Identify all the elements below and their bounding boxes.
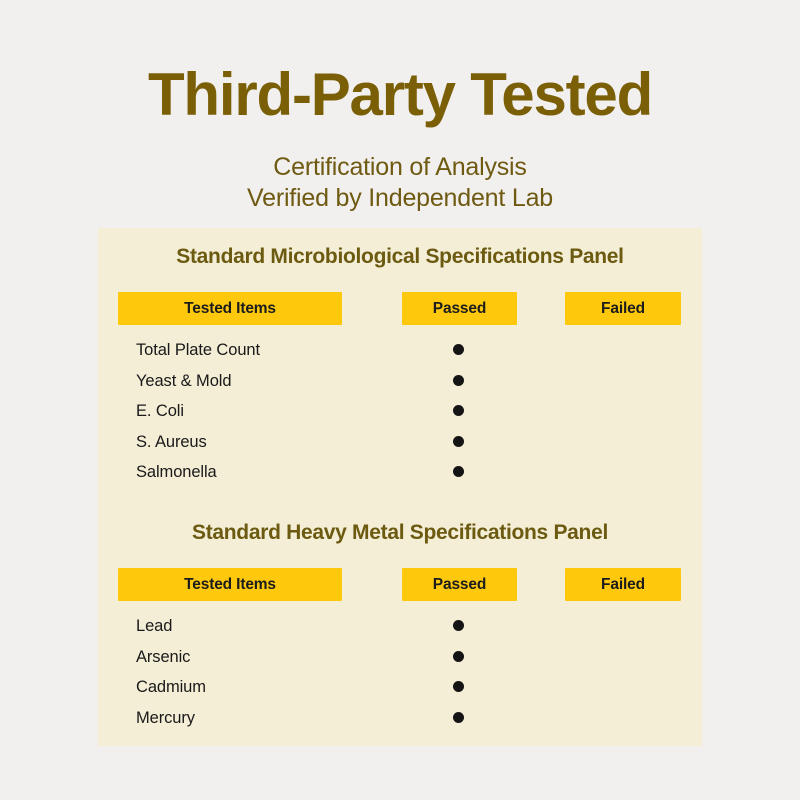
subtitle-line-2: Verified by Independent Lab xyxy=(0,183,800,214)
passed-dot-icon xyxy=(453,712,464,723)
passed-dot-icon xyxy=(453,681,464,692)
table-row: E. Coli xyxy=(98,399,702,430)
table-row: Mercury xyxy=(98,706,702,737)
row-label: Yeast & Mold xyxy=(136,369,231,393)
column-header-tested-items: Tested Items xyxy=(118,292,342,325)
table-row: S. Aureus xyxy=(98,430,702,461)
row-label: Total Plate Count xyxy=(136,338,260,362)
table-row: Arsenic xyxy=(98,645,702,676)
passed-dot-icon xyxy=(453,620,464,631)
certification-card: Standard Microbiological Specifications … xyxy=(98,228,702,746)
column-header-passed: Passed xyxy=(402,292,517,325)
passed-dot-icon xyxy=(453,651,464,662)
row-label: Cadmium xyxy=(136,675,206,699)
table-row: Salmonella xyxy=(98,460,702,491)
row-label: Lead xyxy=(136,614,172,638)
passed-dot-icon xyxy=(453,405,464,416)
row-label: S. Aureus xyxy=(136,430,207,454)
table-row: Lead xyxy=(98,614,702,645)
column-header-tested-items: Tested Items xyxy=(118,568,342,601)
table-row: Yeast & Mold xyxy=(98,369,702,400)
column-header-failed: Failed xyxy=(565,292,681,325)
column-header-failed: Failed xyxy=(565,568,681,601)
table-body: Lead Arsenic Cadmium Mercury xyxy=(98,614,702,736)
table-body: Total Plate Count Yeast & Mold E. Coli S… xyxy=(98,338,702,491)
table-row: Cadmium xyxy=(98,675,702,706)
passed-dot-icon xyxy=(453,375,464,386)
passed-dot-icon xyxy=(453,344,464,355)
column-header-passed: Passed xyxy=(402,568,517,601)
passed-dot-icon xyxy=(453,466,464,477)
table-row: Total Plate Count xyxy=(98,338,702,369)
row-label: Arsenic xyxy=(136,645,190,669)
table-header-row: Tested Items Passed Failed xyxy=(98,568,702,601)
row-label: E. Coli xyxy=(136,399,184,423)
subtitle-line-1: Certification of Analysis xyxy=(0,152,800,183)
panel-title: Standard Heavy Metal Specifications Pane… xyxy=(98,520,702,546)
row-label: Mercury xyxy=(136,706,195,730)
panel-title: Standard Microbiological Specifications … xyxy=(98,244,702,270)
page-title: Third-Party Tested xyxy=(0,59,800,131)
row-label: Salmonella xyxy=(136,460,217,484)
passed-dot-icon xyxy=(453,436,464,447)
table-header-row: Tested Items Passed Failed xyxy=(98,292,702,325)
